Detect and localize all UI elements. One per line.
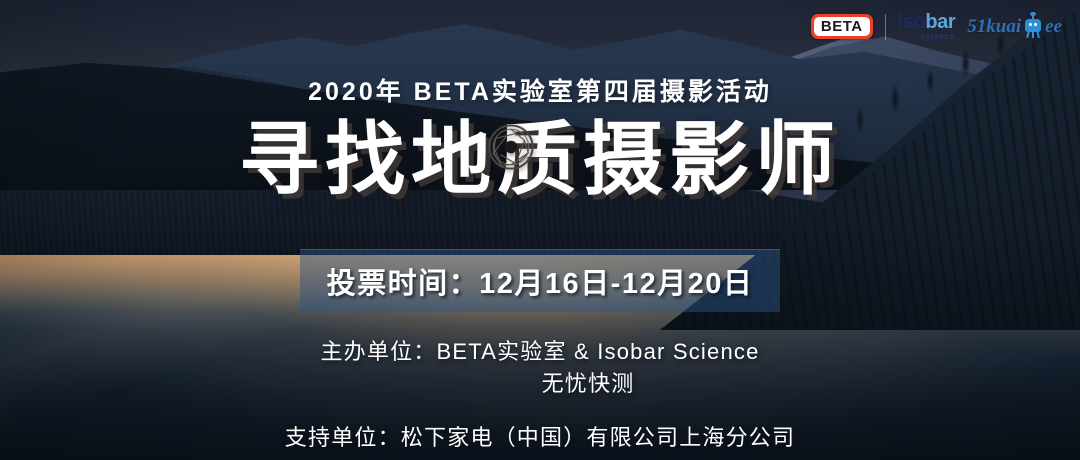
organizer-line-2: 无忧快测 (0, 368, 1080, 400)
isobar-logo[interactable]: isobar science (898, 12, 956, 41)
voting-period-banner: 投票时间：12月16日-12月20日 (300, 249, 780, 312)
poster-banner: BETA isobar science 51kuai ee (0, 0, 1080, 460)
kuaicee-logo-suffix: ee (1045, 16, 1062, 38)
page-title: 寻找地质摄影师 (239, 120, 841, 200)
kuaicee-logo[interactable]: 51kuai ee (967, 15, 1062, 39)
organizer-line-1: 主办单位：BETA实验室 & Isobar Science (0, 336, 1080, 368)
voting-period-text: 投票时间：12月16日-12月20日 (327, 260, 754, 302)
robot-leg-a-icon (1026, 30, 1030, 37)
robot-mascot-icon (1022, 15, 1044, 39)
isobar-logo-iso: iso (898, 11, 926, 33)
credits-block: 主办单位：BETA实验室 & Isobar Science 无忧快测 支持单位：… (0, 336, 1080, 454)
isobar-logo-subtitle: science (921, 33, 955, 41)
isobar-wordmark: isobar (898, 12, 956, 32)
headline-wrapper: 寻找地质摄影师 (0, 120, 1080, 200)
logo-divider (885, 14, 886, 40)
poster-content: 2020年 BETA实验室第四届摄影活动 寻找地质摄影师 投票时间：12月16日… (0, 0, 1080, 460)
supporter-line: 支持单位：松下家电（中国）有限公司上海分公司 (0, 422, 1080, 454)
beta-logo[interactable]: BETA (811, 14, 873, 40)
robot-leg-b-icon (1032, 31, 1034, 38)
robot-eye-left-icon (1029, 23, 1032, 26)
beta-logo-inner: BETA (814, 17, 870, 37)
event-subtitle: 2020年 BETA实验室第四届摄影活动 (0, 72, 1080, 108)
beta-logo-text: BETA (821, 19, 863, 35)
kuaicee-logo-prefix: 51kuai (967, 16, 1021, 38)
camera-aperture-icon (487, 123, 535, 171)
robot-eye-right-icon (1034, 23, 1037, 26)
logo-bar: BETA isobar science 51kuai ee (811, 12, 1062, 41)
isobar-logo-bar: bar (925, 11, 955, 33)
